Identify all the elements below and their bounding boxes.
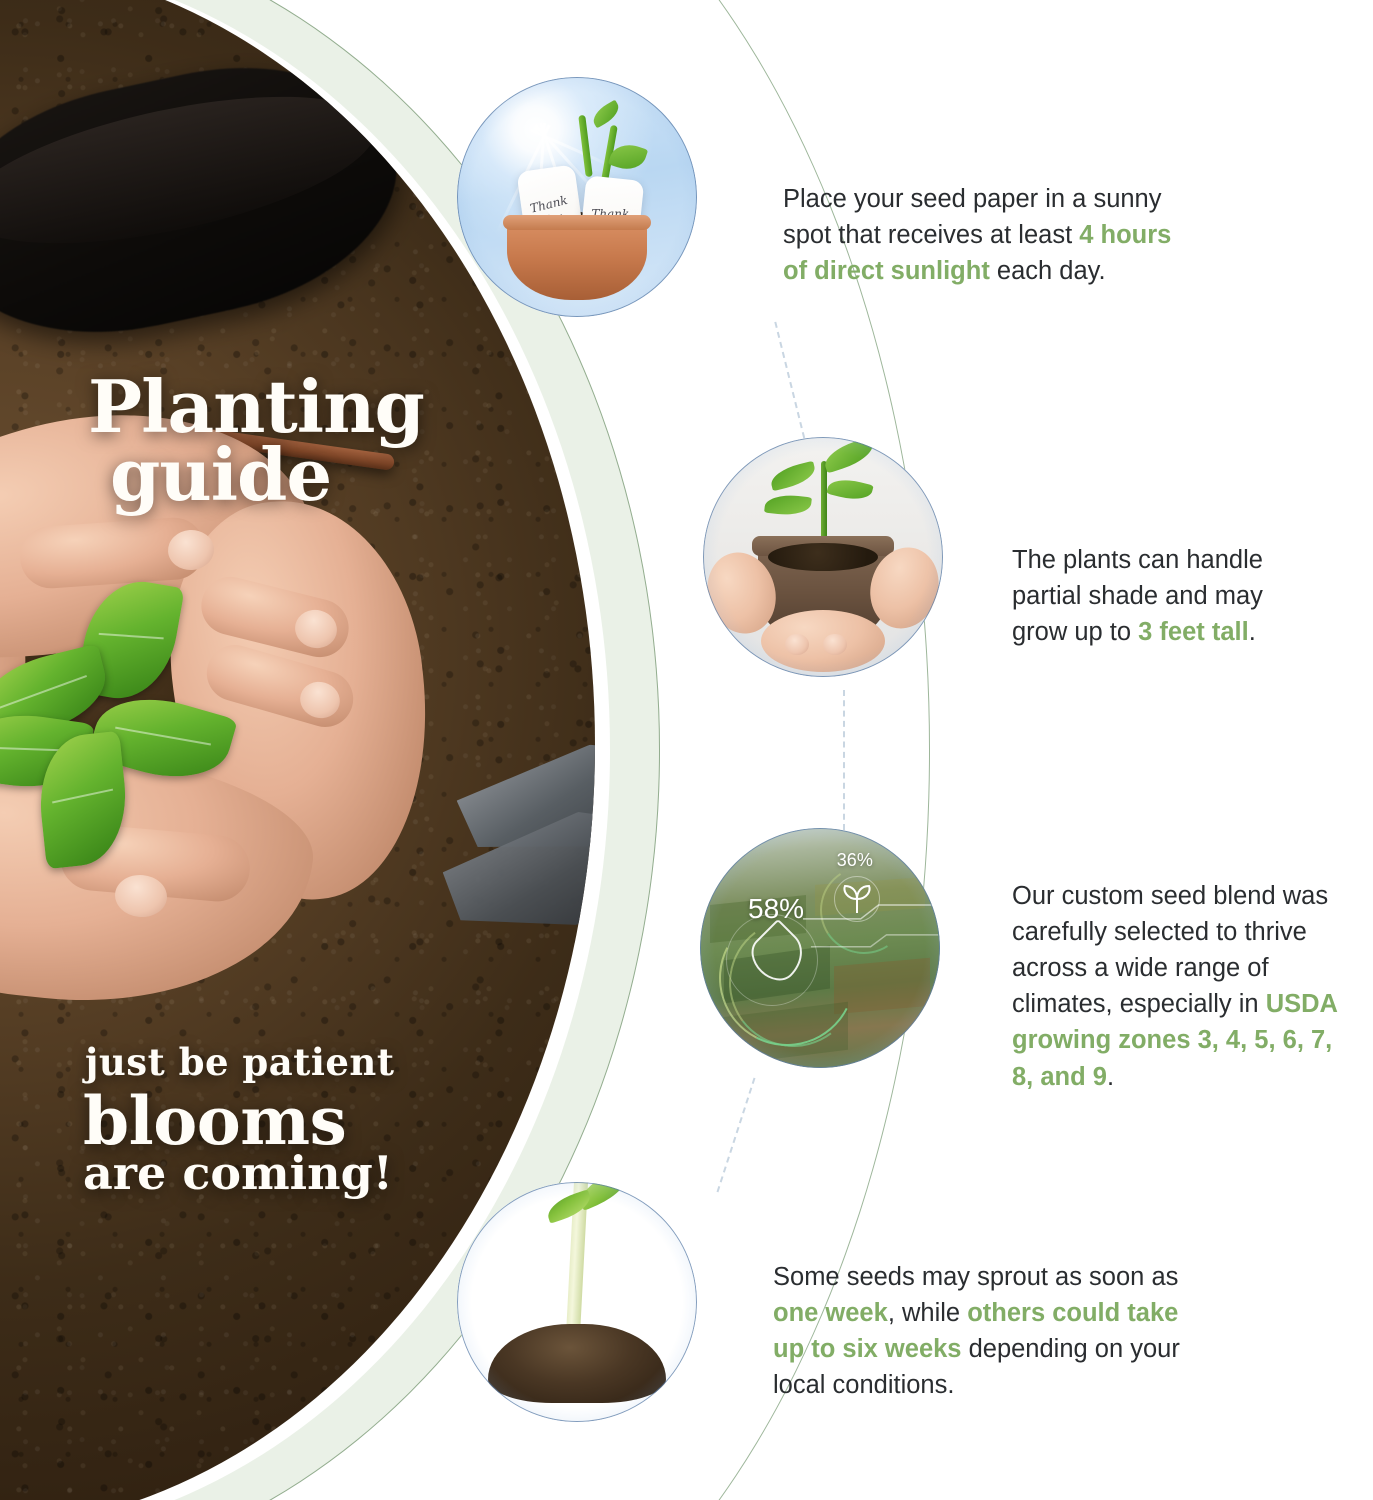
- step-image-farmland-data: 36% 58%: [700, 828, 940, 1068]
- blooms-line2: are coming!: [83, 1152, 533, 1195]
- connector-dash-2: [843, 690, 845, 830]
- blooms-headline: blooms are coming!: [83, 1090, 533, 1195]
- step-image-sprouting-seed: [457, 1182, 697, 1422]
- step-image-sunlight: Thank You for helping us Thank You for h…: [457, 77, 697, 317]
- planting-guide-infographic: Planting guide just be patient blooms ar…: [0, 0, 1373, 1500]
- kicker-text: just be patient: [85, 1040, 505, 1084]
- connector-dash-1: [774, 322, 807, 449]
- body-text: each day.: [990, 257, 1106, 285]
- body-text: .: [1249, 618, 1256, 646]
- connector-dash-3: [717, 1078, 756, 1193]
- bubble-edge-1: [457, 77, 697, 317]
- step-image-potted-plant: [703, 437, 943, 677]
- body-text: .: [1107, 1063, 1114, 1091]
- bubble-edge-2: [703, 437, 943, 677]
- step-text-zones: Our custom seed blend was carefully sele…: [1012, 878, 1352, 1095]
- page-title-line2: guide: [88, 441, 518, 509]
- highlighted-text: one week: [773, 1299, 888, 1327]
- bubble-edge-3: [700, 828, 940, 1068]
- highlighted-text: 3 feet tall: [1138, 618, 1249, 646]
- step-text-germination: Some seeds may sprout as soon as one wee…: [773, 1259, 1193, 1404]
- body-text: Some seeds may sprout as soon as: [773, 1263, 1178, 1291]
- step-text-sunlight: Place your seed paper in a sunny spot th…: [783, 181, 1183, 290]
- page-title: Planting guide: [88, 373, 518, 508]
- step-text-height: The plants can handle partial shade and …: [1012, 542, 1312, 651]
- bubble-edge-4: [457, 1182, 697, 1422]
- body-text: , while: [888, 1299, 967, 1327]
